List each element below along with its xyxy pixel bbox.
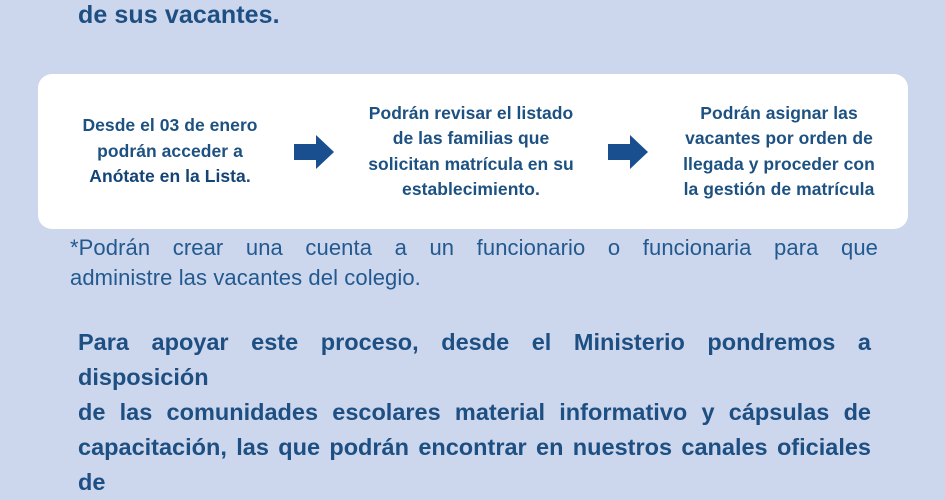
step-2-line-2: de las familias que bbox=[340, 126, 602, 152]
step-2-line-4: establecimiento. bbox=[340, 177, 602, 203]
step-3-line-3: llegada y proceder con bbox=[654, 152, 904, 178]
infographic-page: de sus vacantes. Desde el 03 de enero po… bbox=[0, 0, 945, 430]
paragraph-line-1: Para apoyar este proceso, desde el Minis… bbox=[78, 325, 871, 395]
step-1-line-2: podrán acceder a bbox=[52, 139, 288, 165]
footnote-block: *Podrán crear una cuenta a un funcionari… bbox=[70, 233, 878, 293]
step-3-line-4: la gestión de matrícula bbox=[654, 177, 904, 203]
step-3-line-2: vacantes por orden de bbox=[654, 126, 904, 152]
step-1-line-1: Desde el 03 de enero bbox=[52, 113, 288, 139]
steps-card: Desde el 03 de enero podrán acceder a An… bbox=[38, 74, 908, 229]
arrow-1-container bbox=[288, 132, 340, 172]
anotate-en-la-lista-label: Anótate en la Lista bbox=[89, 166, 246, 186]
step-item-1: Desde el 03 de enero podrán acceder a An… bbox=[52, 113, 288, 190]
paragraph-line-2: de las comunidades escolares material in… bbox=[78, 395, 871, 430]
right-arrow-icon bbox=[606, 132, 650, 172]
step-2-line-1: Podrán revisar el listado bbox=[340, 101, 602, 127]
paragraph-line-3: capacitación, las que podrán encontrar e… bbox=[78, 430, 871, 500]
step-2-line-3: solicitan matrícula en su bbox=[340, 152, 602, 178]
right-arrow-icon bbox=[292, 132, 336, 172]
footnote-line-2: administre las vacantes del colegio. bbox=[70, 263, 878, 293]
footnote-line-1: *Podrán crear una cuenta a un funcionari… bbox=[70, 233, 878, 263]
top-continuation-text: de sus vacantes. bbox=[78, 0, 280, 32]
step-1-line-3: Anótate en la Lista. bbox=[52, 164, 288, 190]
step-item-3: Podrán asignar las vacantes por orden de… bbox=[654, 101, 904, 203]
step-1-period: . bbox=[246, 166, 251, 186]
step-3-line-1: Podrán asignar las bbox=[654, 101, 904, 127]
step-item-2: Podrán revisar el listado de las familia… bbox=[340, 101, 602, 203]
body-paragraph: Para apoyar este proceso, desde el Minis… bbox=[78, 325, 871, 500]
arrow-2-container bbox=[602, 132, 654, 172]
